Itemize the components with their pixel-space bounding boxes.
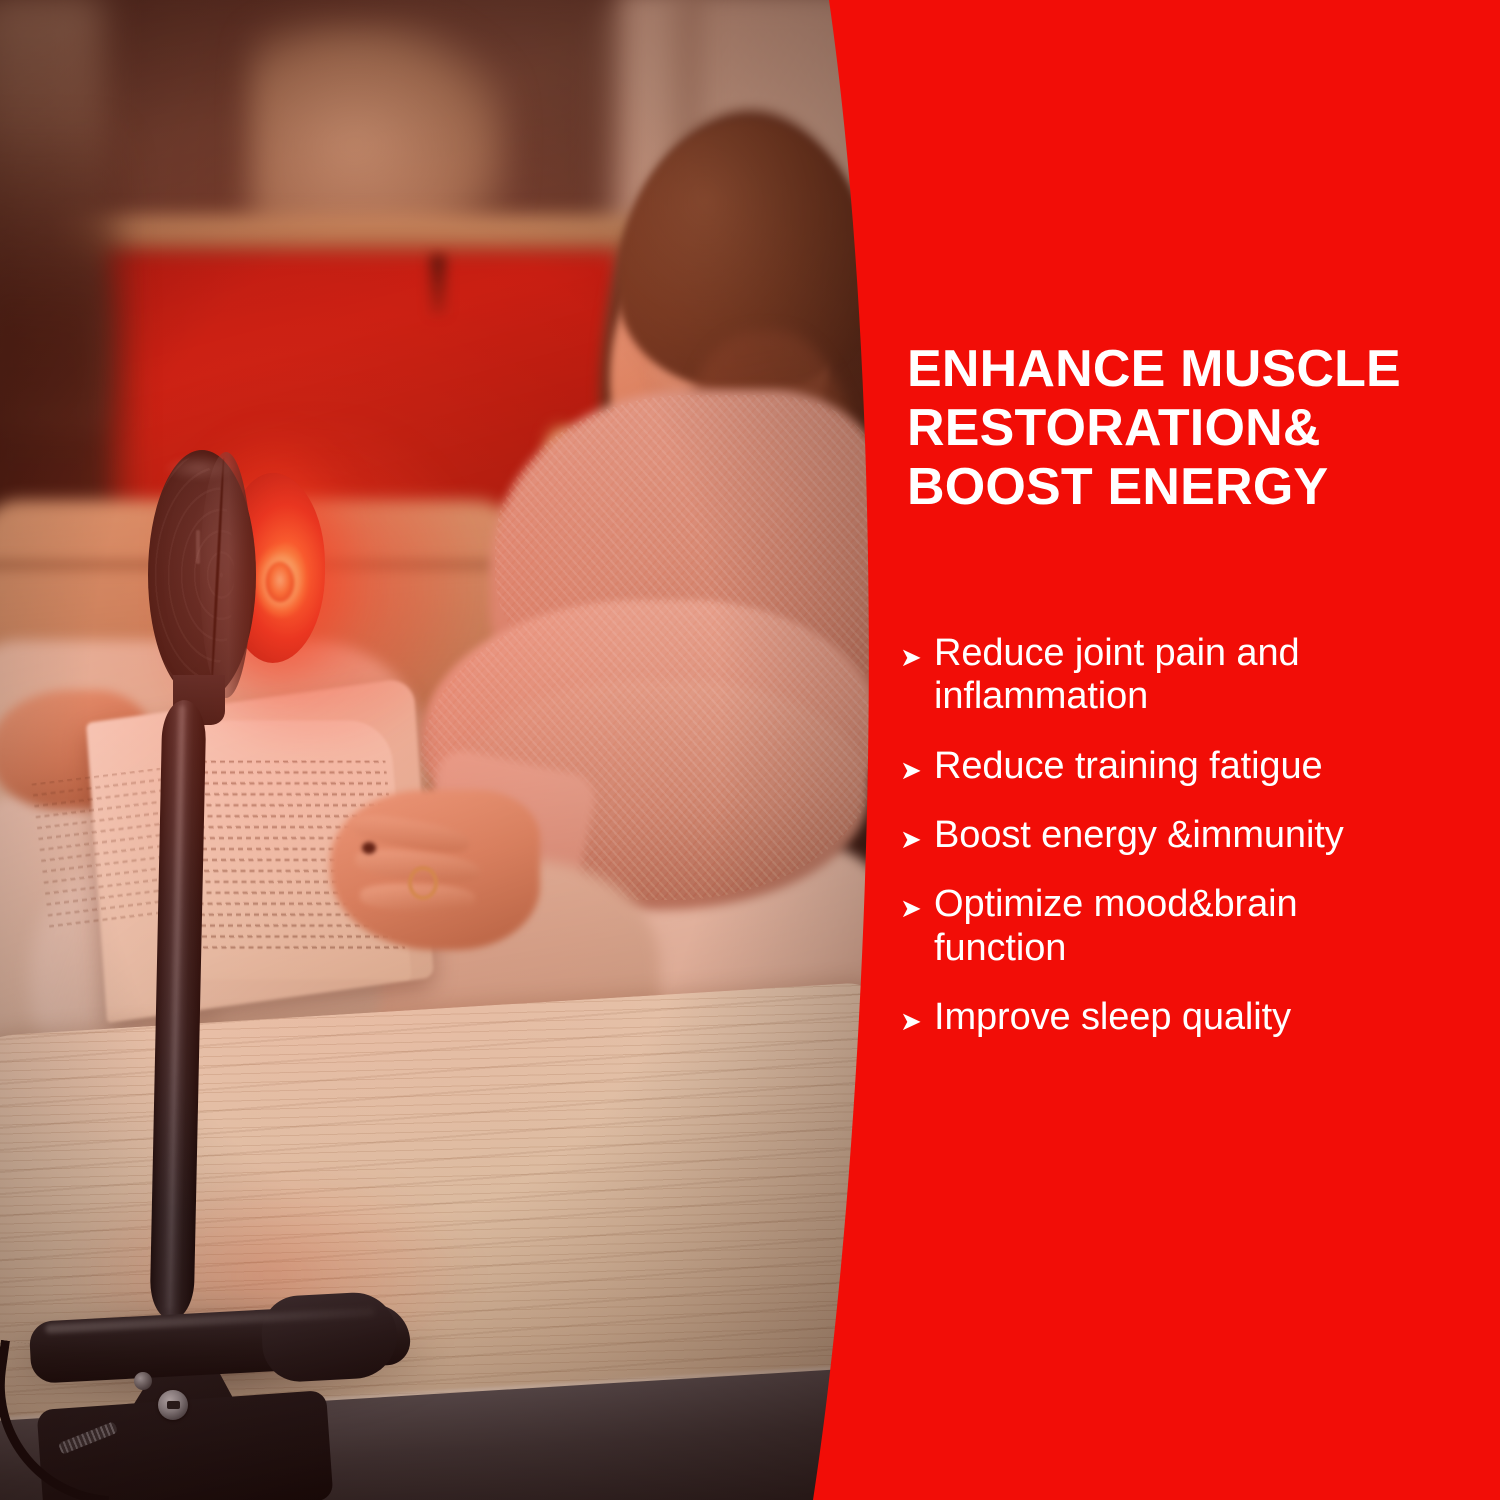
list-item: ➤ Optimize mood&brain function: [900, 883, 1480, 970]
lamp-head-rim: [200, 452, 252, 698]
arrow-right-icon: ➤: [900, 632, 934, 670]
lamp-brand-mark: [196, 530, 200, 564]
headline-line-3: BOOST ENERGY: [907, 458, 1447, 517]
list-item: ➤ Improve sleep quality: [900, 996, 1480, 1039]
list-item-label: Boost energy &immunity: [934, 814, 1344, 857]
clamp-pad-knob: [260, 1291, 399, 1384]
list-item-label: Reduce joint pain and inflammation: [934, 632, 1439, 719]
product-marketing-banner: ENHANCE MUSCLE RESTORATION& BOOST ENERGY…: [0, 0, 1500, 1500]
clamp-pivot-pin: [134, 1372, 152, 1390]
clamp-screw-slot: [167, 1401, 180, 1409]
arrow-right-icon: ➤: [900, 745, 934, 783]
list-item-label: Optimize mood&brain function: [934, 883, 1439, 970]
headline-line-1: ENHANCE MUSCLE: [907, 340, 1447, 399]
list-item-label: Improve sleep quality: [934, 996, 1291, 1039]
arrow-right-icon: ➤: [900, 996, 934, 1034]
lamp-filament: [266, 562, 294, 602]
lamp-head-highlight: [162, 455, 236, 481]
book-text-lines-left: [31, 768, 178, 933]
fingernail: [362, 842, 376, 854]
list-item: ➤ Reduce joint pain and inflammation: [900, 632, 1480, 719]
feature-panel-content: ENHANCE MUSCLE RESTORATION& BOOST ENERGY…: [900, 0, 1500, 1500]
arrow-right-icon: ➤: [900, 883, 934, 921]
arrow-right-icon: ➤: [900, 814, 934, 852]
benefits-list: ➤ Reduce joint pain and inflammation ➤ R…: [900, 632, 1480, 1065]
page-title: ENHANCE MUSCLE RESTORATION& BOOST ENERGY: [907, 340, 1447, 516]
list-item-label: Reduce training fatigue: [934, 745, 1323, 788]
list-item: ➤ Reduce training fatigue: [900, 745, 1480, 788]
lifestyle-photo: [0, 0, 900, 1500]
list-item: ➤ Boost energy &immunity: [900, 814, 1480, 857]
background-cabinet-handle: [430, 255, 446, 315]
headline-line-2: RESTORATION&: [907, 399, 1447, 458]
finger-ring: [408, 866, 438, 900]
